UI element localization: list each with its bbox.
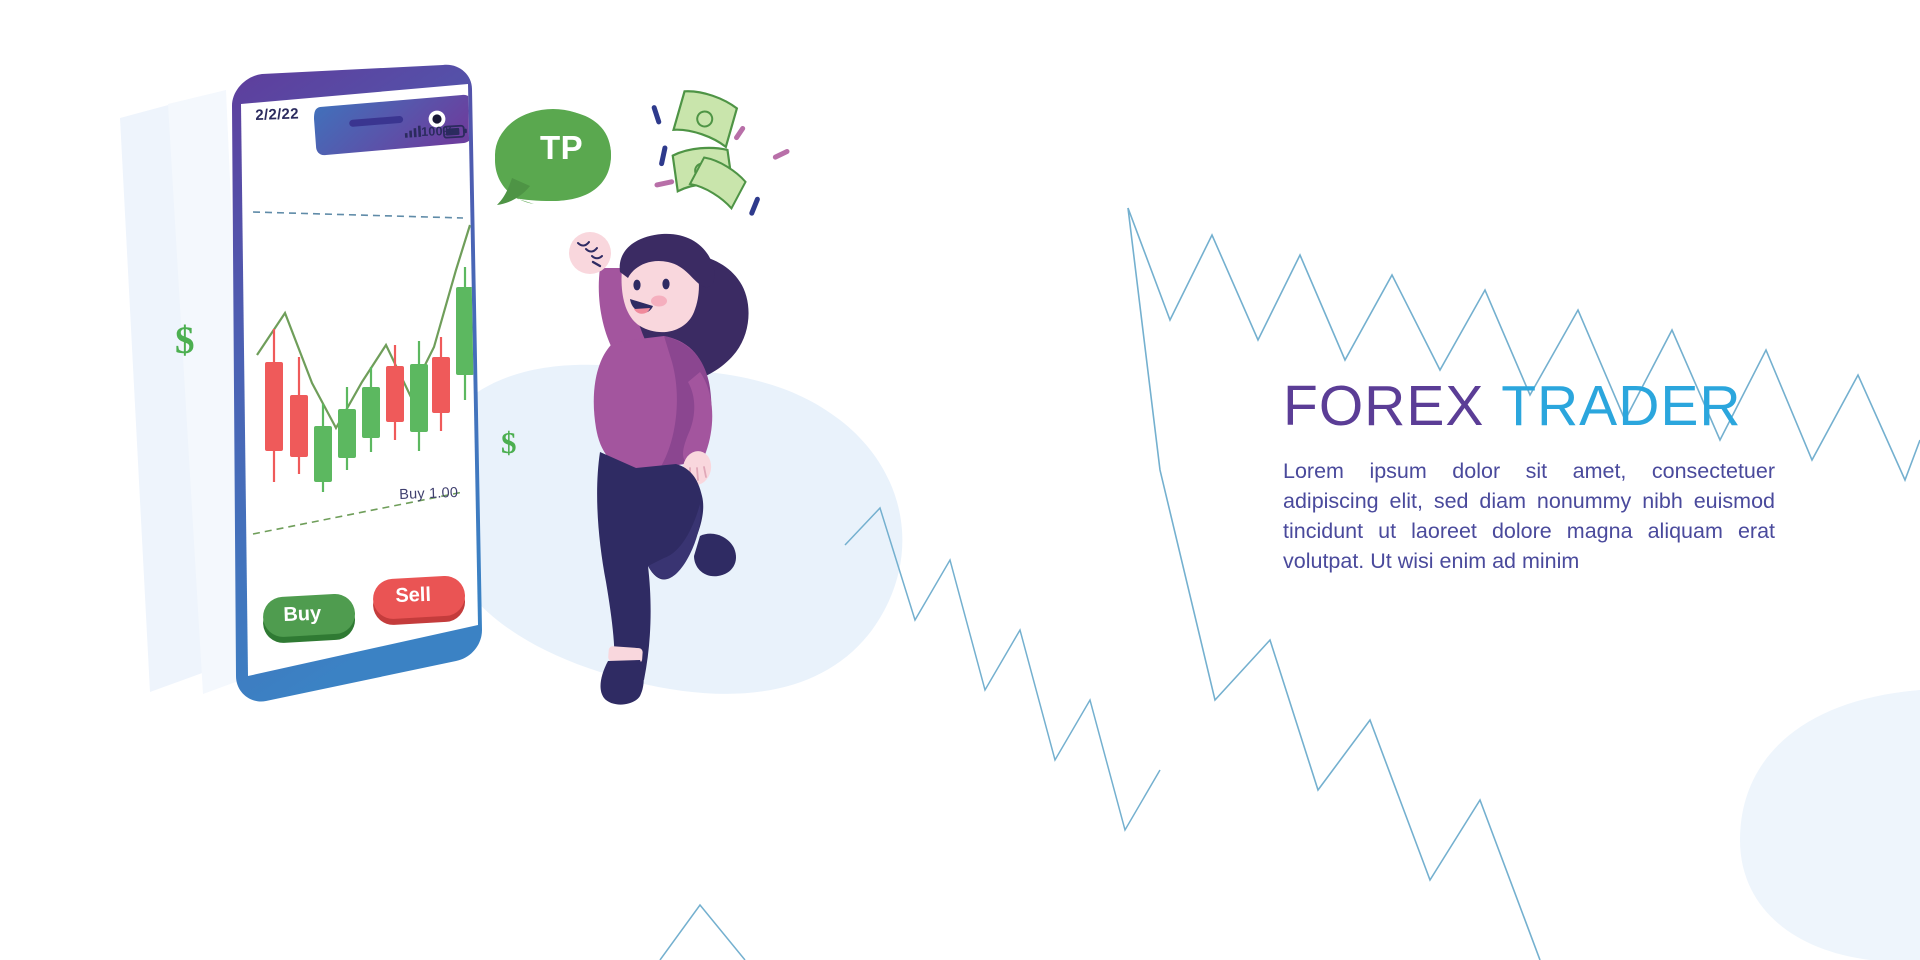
character-eye <box>633 280 640 291</box>
tp-bubble-label: TP <box>540 129 583 167</box>
body-paragraph: Lorem ipsum dolor sit amet, consectetuer… <box>1283 457 1775 577</box>
character-fist <box>569 232 611 274</box>
phone-battery-percent: 100% <box>421 124 454 139</box>
sell-button-label[interactable]: Sell <box>395 584 431 608</box>
headline-word-forex: FOREX <box>1283 374 1484 438</box>
headline-word-trader: TRADER <box>1501 374 1741 438</box>
buy-price-line-label: Buy 1.00 <box>399 485 458 503</box>
character-cheek <box>651 296 667 307</box>
page-title: FOREX TRADER <box>1283 378 1783 435</box>
buy-button-label[interactable]: Buy <box>283 603 322 627</box>
text-panel: FOREX TRADER Lorem ipsum dolor sit amet,… <box>1283 378 1783 577</box>
character-shoe <box>694 534 736 577</box>
character-eye <box>662 279 669 290</box>
illustration-canvas: 2/2/22 100% Buy 1.00 TP Buy Sell $ $ FOR… <box>0 0 1920 960</box>
dollar-sign-middle-icon: $ <box>501 425 517 461</box>
phone-status-date: 2/2/22 <box>255 105 299 124</box>
dollar-sign-left-icon: $ <box>175 318 195 363</box>
character-shoe <box>601 660 644 705</box>
